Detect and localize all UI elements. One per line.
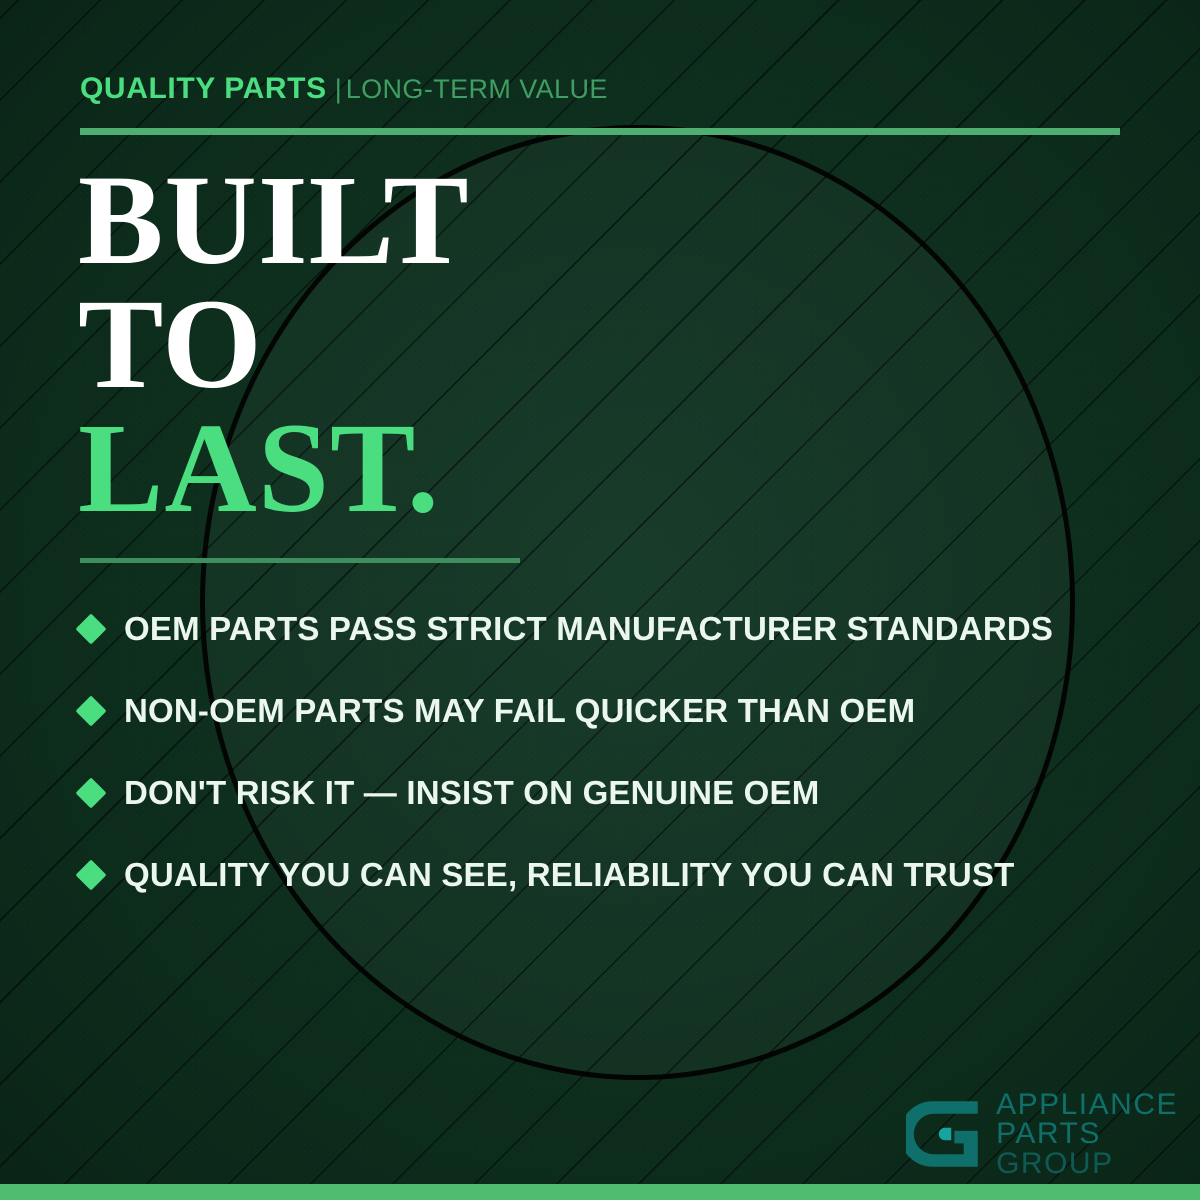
list-item-label: QUALITY YOU CAN SEE, RELIABILITY YOU CAN… <box>124 856 1015 894</box>
eyebrow-separator: | <box>335 74 342 104</box>
brand-logo: APPLIANCE PARTS GROUP <box>906 1090 1178 1178</box>
list-item-label: NON-OEM PARTS MAY FAIL QUICKER THAN OEM <box>124 692 915 730</box>
list-item: NON-OEM PARTS MAY FAIL QUICKER THAN OEM <box>80 670 1140 752</box>
eyebrow-subtitle: LONG-TERM VALUE <box>346 74 608 104</box>
eyebrow: QUALITY PARTS|LONG-TERM VALUE <box>80 74 608 104</box>
diamond-bullet-icon <box>75 859 106 890</box>
g-monogram-icon <box>906 1095 984 1173</box>
diamond-bullet-icon <box>75 777 106 808</box>
eyebrow-title: QUALITY PARTS <box>80 72 327 105</box>
poster-canvas: QUALITY PARTS|LONG-TERM VALUE BUILT TO L… <box>0 0 1200 1200</box>
headline-line-3: LAST. <box>78 406 470 530</box>
list-item: QUALITY YOU CAN SEE, RELIABILITY YOU CAN… <box>80 834 1140 916</box>
benefits-list: OEM PARTS PASS STRICT MANUFACTURER STAND… <box>80 588 1140 916</box>
diamond-bullet-icon <box>75 695 106 726</box>
headline-line-1: BUILT <box>78 158 470 282</box>
list-item-label: OEM PARTS PASS STRICT MANUFACTURER STAND… <box>124 610 1053 648</box>
diamond-bullet-icon <box>75 613 106 644</box>
brand-wordmark: APPLIANCE PARTS GROUP <box>996 1090 1178 1178</box>
list-item-label: DON'T RISK IT — INSIST ON GENUINE OEM <box>124 774 819 812</box>
bottom-accent-bar <box>0 1184 1200 1200</box>
brand-word-parts: PARTS <box>996 1119 1178 1148</box>
header-divider-rule <box>80 128 1120 135</box>
headline-divider-rule <box>80 558 520 563</box>
page-title: BUILT TO LAST. <box>78 158 470 530</box>
headline-line-2: TO <box>78 282 470 406</box>
list-item: OEM PARTS PASS STRICT MANUFACTURER STAND… <box>80 588 1140 670</box>
poster-content: QUALITY PARTS|LONG-TERM VALUE BUILT TO L… <box>0 0 1200 1200</box>
brand-word-appliance: APPLIANCE <box>996 1090 1178 1119</box>
brand-word-group: GROUP <box>996 1149 1178 1178</box>
list-item: DON'T RISK IT — INSIST ON GENUINE OEM <box>80 752 1140 834</box>
